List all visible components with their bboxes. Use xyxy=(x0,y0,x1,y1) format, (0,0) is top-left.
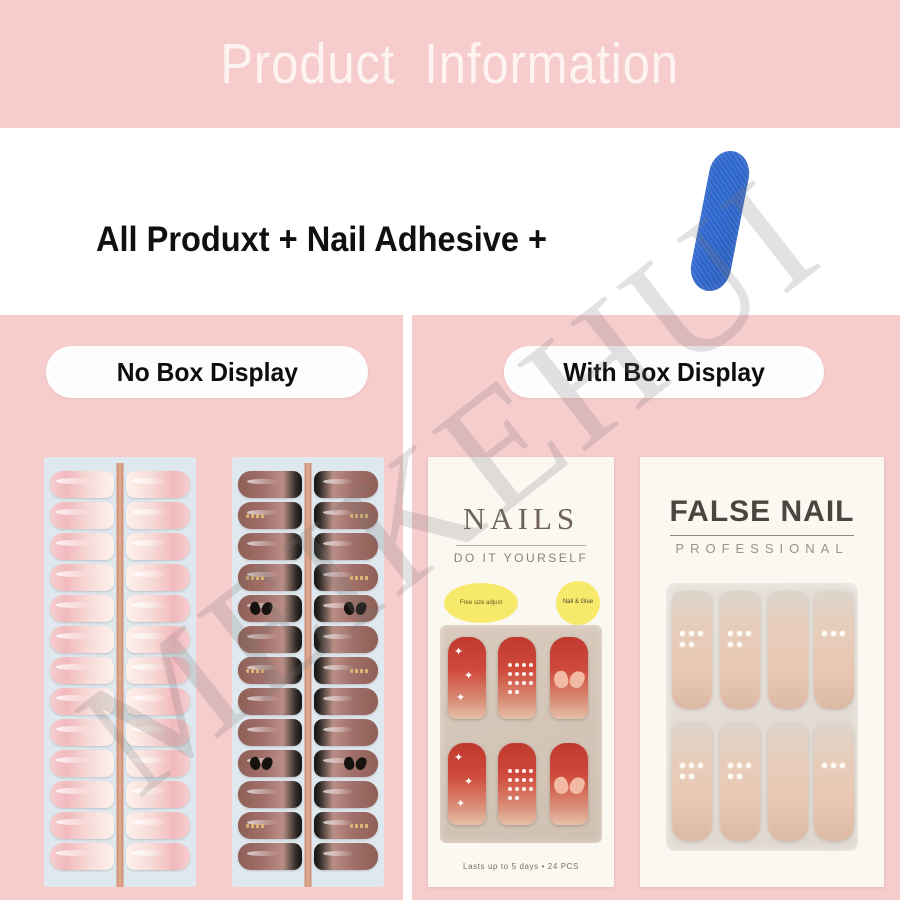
decorated-red-nail xyxy=(550,637,588,719)
page-title: Product Information xyxy=(221,31,680,97)
nails-box-footnote: Lasts up to 5 days • 24 PCS xyxy=(428,862,614,871)
false-nail-piece xyxy=(238,688,302,715)
rhinestone xyxy=(737,631,742,636)
rhinestone xyxy=(840,631,845,636)
panel-no-box: No Box Display xyxy=(0,315,403,900)
rhinestone xyxy=(728,763,733,768)
nails-box-badge-oval: Free size adjust xyxy=(444,583,518,623)
comparison-panels: No Box Display With Box Display NAILS DO… xyxy=(0,315,900,900)
star-decoration: ✦ xyxy=(464,777,473,788)
rhinestone xyxy=(522,681,526,685)
rhinestone xyxy=(508,796,512,800)
rhinestone xyxy=(515,769,519,773)
nude-coffin-nail xyxy=(672,591,712,709)
nude-coffin-nail xyxy=(814,591,854,709)
chain-decoration xyxy=(246,514,266,518)
false-nail-piece xyxy=(126,688,190,715)
false-nail-piece xyxy=(50,564,114,591)
rhinestone xyxy=(680,631,685,636)
false-nail-piece xyxy=(126,564,190,591)
pink-ombre-nail-strip xyxy=(44,457,196,887)
panel-with-box: With Box Display NAILS DO IT YOURSELF Fr… xyxy=(412,315,900,900)
star-decoration: ✦ xyxy=(456,693,465,704)
rhinestone xyxy=(515,681,519,685)
rhinestone xyxy=(508,787,512,791)
decorated-red-nail xyxy=(550,743,588,825)
rhinestone xyxy=(522,787,526,791)
bow-decoration xyxy=(344,602,366,615)
rhinestone xyxy=(822,631,827,636)
rhinestone xyxy=(529,787,533,791)
false-nail-piece xyxy=(50,843,114,870)
rhinestone xyxy=(737,642,742,647)
false-nail-box-brand: FALSE NAIL xyxy=(640,495,884,529)
nails-box-brand: NAILS xyxy=(428,501,614,537)
rhinestone xyxy=(508,778,512,782)
label-no-box-display-text: No Box Display xyxy=(116,357,297,388)
decorated-red-nail: ✦✦✦ xyxy=(448,637,486,719)
label-no-box-display: No Box Display xyxy=(46,346,368,398)
rhinestone xyxy=(529,778,533,782)
product-contents-text: All Produxt + Nail Adhesive + xyxy=(96,220,547,260)
false-nail-piece xyxy=(126,719,190,746)
decorated-red-nail xyxy=(498,743,536,825)
rhinestone xyxy=(746,631,751,636)
false-nail-piece xyxy=(50,502,114,529)
rhinestone xyxy=(728,631,733,636)
false-nail-box-rule xyxy=(670,535,854,536)
rhinestone xyxy=(522,778,526,782)
false-nail-piece xyxy=(126,781,190,808)
false-nail-piece xyxy=(238,626,302,653)
false-nail-piece xyxy=(238,471,302,498)
false-nail-piece xyxy=(50,657,114,684)
false-nail-piece xyxy=(50,719,114,746)
bow-decoration xyxy=(250,757,272,770)
star-decoration: ✦ xyxy=(454,647,463,658)
rhinestone xyxy=(831,763,836,768)
rhinestone xyxy=(529,681,533,685)
false-nail-clear-tray xyxy=(666,583,858,851)
rhinestone xyxy=(522,769,526,773)
rhinestone xyxy=(522,663,526,667)
header-band: Product Information xyxy=(0,0,900,128)
false-nail-piece xyxy=(50,626,114,653)
false-nail-piece xyxy=(126,533,190,560)
nails-box-badge-circle: Nail & Glue xyxy=(556,581,600,625)
strip-spine xyxy=(117,463,124,887)
product-information-page: Product Information All Produxt + Nail A… xyxy=(0,0,900,900)
rhinestone xyxy=(508,690,512,694)
rhinestone xyxy=(840,763,845,768)
chain-decoration xyxy=(350,576,370,580)
nails-box-rule xyxy=(456,545,586,546)
rhinestone xyxy=(515,663,519,667)
dark-tip-nail-strip xyxy=(232,457,384,887)
false-nail-box-subtitle: PROFESSIONAL xyxy=(640,541,884,556)
rhinestone xyxy=(508,769,512,773)
false-nail-piece xyxy=(126,471,190,498)
nude-coffin-nail xyxy=(768,723,808,841)
chain-decoration xyxy=(350,514,370,518)
rhinestone xyxy=(746,763,751,768)
false-nail-piece xyxy=(50,750,114,777)
rhinestone xyxy=(728,774,733,779)
rhinestone xyxy=(737,774,742,779)
rhinestone xyxy=(822,763,827,768)
rhinestone xyxy=(529,672,533,676)
rhinestone xyxy=(508,681,512,685)
false-nail-piece xyxy=(126,595,190,622)
false-nail-piece xyxy=(50,595,114,622)
false-nail-piece xyxy=(238,843,302,870)
rhinestone xyxy=(508,663,512,667)
strip-spine xyxy=(305,463,312,887)
nails-box-subtitle: DO IT YOURSELF xyxy=(428,551,614,565)
star-decoration: ✦ xyxy=(454,753,463,764)
false-nail-piece xyxy=(126,812,190,839)
rhinestone xyxy=(529,663,533,667)
false-nail-piece xyxy=(314,471,378,498)
nude-coffin-nail xyxy=(672,723,712,841)
false-nail-piece xyxy=(314,688,378,715)
bow-decoration xyxy=(344,757,366,770)
peach-bow-decoration xyxy=(554,777,584,794)
false-nail-piece xyxy=(126,750,190,777)
rhinestone xyxy=(728,642,733,647)
rhinestone xyxy=(508,672,512,676)
star-decoration: ✦ xyxy=(456,799,465,810)
chain-decoration xyxy=(246,576,266,580)
false-nail-piece xyxy=(238,781,302,808)
bow-decoration xyxy=(250,602,272,615)
false-nail-piece xyxy=(126,626,190,653)
panel-divider xyxy=(403,315,412,900)
chain-decoration xyxy=(246,669,266,673)
false-nail-piece xyxy=(50,812,114,839)
false-nail-piece xyxy=(314,843,378,870)
decorated-red-nail: ✦✦✦ xyxy=(448,743,486,825)
rhinestone xyxy=(515,778,519,782)
rhinestone xyxy=(698,631,703,636)
nails-box-blister-tray: ✦✦✦✦✦✦ xyxy=(440,625,602,843)
nude-coffin-nail xyxy=(720,723,760,841)
decorated-red-nail xyxy=(498,637,536,719)
rhinestone xyxy=(831,631,836,636)
product-contents-band: All Produxt + Nail Adhesive + xyxy=(0,128,900,315)
rhinestone xyxy=(522,672,526,676)
false-nail-piece xyxy=(314,781,378,808)
false-nail-piece xyxy=(314,533,378,560)
rhinestone xyxy=(680,642,685,647)
rhinestone xyxy=(680,774,685,779)
false-nail-piece xyxy=(126,843,190,870)
rhinestone xyxy=(515,690,519,694)
label-with-box-display: With Box Display xyxy=(504,346,824,398)
false-nail-piece xyxy=(50,688,114,715)
nude-coffin-nail xyxy=(814,723,854,841)
rhinestone xyxy=(689,631,694,636)
rhinestone xyxy=(680,763,685,768)
false-nail-piece xyxy=(50,471,114,498)
rhinestone xyxy=(529,769,533,773)
false-nail-piece xyxy=(126,657,190,684)
false-nail-piece xyxy=(50,781,114,808)
rhinestone xyxy=(515,796,519,800)
chain-decoration xyxy=(246,824,266,828)
false-nail-piece xyxy=(238,719,302,746)
false-nail-box-package: FALSE NAIL PROFESSIONAL xyxy=(640,457,884,887)
false-nail-piece xyxy=(126,502,190,529)
nails-box-package: NAILS DO IT YOURSELF Free size adjust Na… xyxy=(428,457,614,887)
nude-coffin-nail xyxy=(720,591,760,709)
nude-coffin-nail xyxy=(768,591,808,709)
rhinestone xyxy=(689,763,694,768)
label-with-box-display-text: With Box Display xyxy=(563,357,765,388)
star-decoration: ✦ xyxy=(464,671,473,682)
rhinestone xyxy=(515,672,519,676)
chain-decoration xyxy=(350,824,370,828)
rhinestone xyxy=(689,774,694,779)
rhinestone xyxy=(737,763,742,768)
false-nail-piece xyxy=(50,533,114,560)
peach-bow-decoration xyxy=(554,671,584,688)
nail-file-icon xyxy=(687,147,753,294)
false-nail-piece xyxy=(314,626,378,653)
false-nail-piece xyxy=(238,533,302,560)
false-nail-piece xyxy=(314,719,378,746)
rhinestone xyxy=(689,642,694,647)
rhinestone xyxy=(515,787,519,791)
chain-decoration xyxy=(350,669,370,673)
rhinestone xyxy=(698,763,703,768)
